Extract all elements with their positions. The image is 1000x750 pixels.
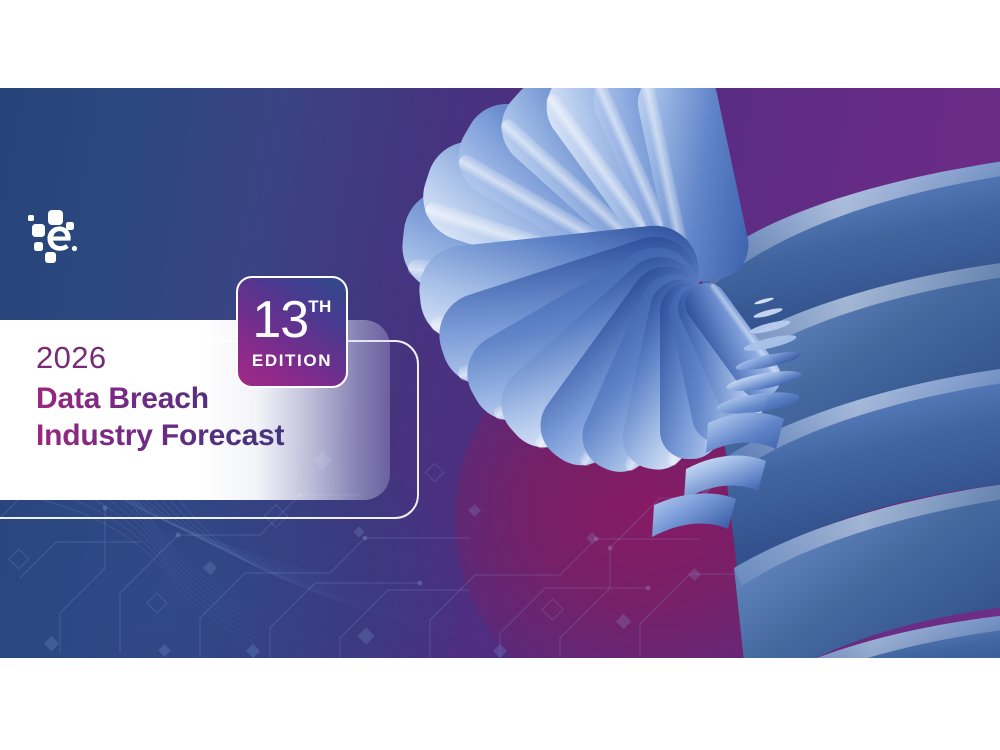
edition-badge: 13 TH EDITION xyxy=(236,276,348,388)
edition-number: 13 xyxy=(252,294,308,346)
page-background: 2026 Data Breach Industry Forecast 13 TH… xyxy=(0,0,1000,750)
hero-banner: 2026 Data Breach Industry Forecast 13 TH… xyxy=(0,88,1000,658)
experian-logo xyxy=(28,206,90,268)
edition-label: EDITION xyxy=(252,351,332,371)
title-line-2: Industry Forecast xyxy=(36,418,376,455)
spiral-blade-artwork xyxy=(400,88,1000,658)
edition-ordinal: TH xyxy=(308,298,331,315)
edition-number-row: 13 TH xyxy=(252,294,331,346)
